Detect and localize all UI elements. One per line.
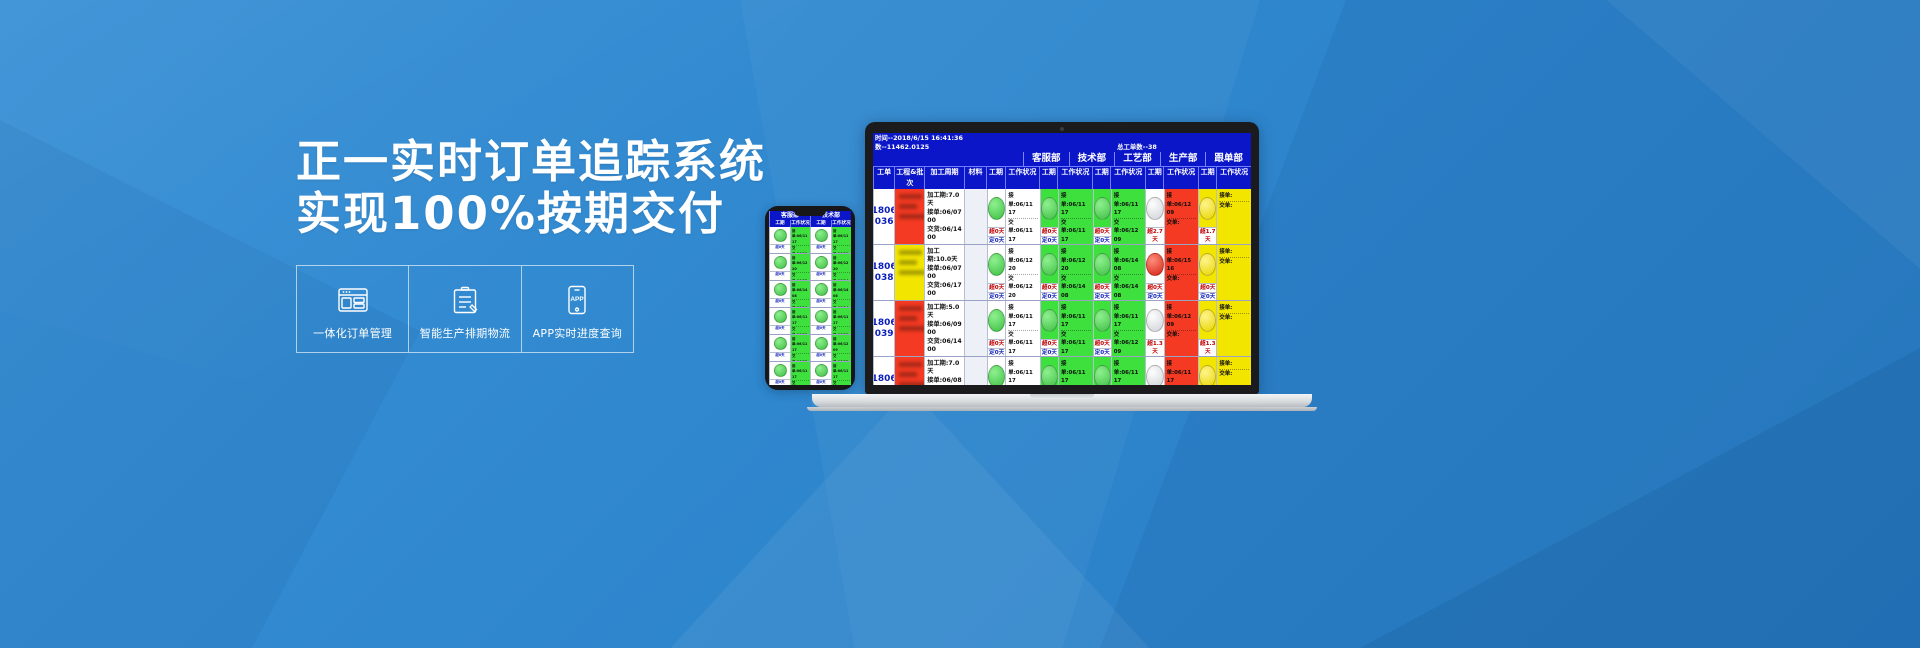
over-days-badge: 超1.3天 [1199,339,1216,356]
order-tracking-dashboard: 时间--2018/6/15 16:41:36 数--11462.0125 总工单… [873,133,1251,385]
fixed-days-badge: 定0天 [988,236,1005,244]
feature-item-order-management[interactable]: 一体化订单管理 [296,265,409,353]
phone-duration-cell: 超0天 [769,362,790,385]
dept-duration-cell: 超0天定0天 [1093,189,1111,244]
status-dot-yellow [1199,365,1216,386]
column-header-1: 工程&批次 [894,167,924,189]
dept-header-spacer [873,152,1023,166]
dept-duration-cell: 超1.3天定0天 [1198,301,1216,356]
phone-status-cell: 接单:06/12 20交单:06/14 08确认:06/14 08 [831,254,851,280]
phone-table-row[interactable]: 超0天接单:06/11 17交单:06/11 17超0天接单:06/11 17交… [769,227,851,254]
table-row[interactable]: 1806036加工期:7.0天接单:06/07 00交货:06/14 00超0天… [873,189,1251,245]
phone-badge: 超0天 [770,352,790,358]
phone-duration-cell: 超0天 [810,335,831,361]
dept-status-cell: 接单:交单: [1216,301,1251,356]
dept-status-cell: 接单:06/11 17交单:06/11 17确认:06/11 17 [1058,357,1093,385]
dept-status-cell: 接单:06/11 17交单: [1164,357,1199,385]
phone-badge: 超0天 [811,379,831,385]
dept-duration-cell: 超0天定1天 [987,357,1005,385]
dept-duration-cell: 超0天定4天 [1040,357,1058,385]
cycle-cell: 加工期:7.0天接单:06/08 00交货:06/15 00 [924,357,964,385]
dashboard-meta-2: 数--11462.0125 总工单数--38 [873,143,1251,152]
phone-badge: 超0天 [811,298,831,304]
clipboard-schedule-icon [450,279,480,321]
project-batch-cell [894,189,924,244]
status-dot-green [988,309,1005,332]
phone-duration-cell: 超0天 [769,308,790,334]
dept-col-header: 工作状况 [1005,167,1040,189]
phone-duration-cell: 超0天 [769,227,790,253]
status-dot-red [1146,253,1163,276]
mobile-app-icon: APP [565,279,589,321]
dept-col-header: 工作状况 [1110,167,1145,189]
phone-table-body: 超0天接单:06/11 17交单:06/11 17超0天接单:06/11 17交… [769,227,851,385]
phone-badge: 超0天 [770,379,790,385]
feature-label: APP实时进度查询 [533,327,623,340]
phone-badge: 超0天 [811,271,831,277]
dept-status-cell: 接单:06/14 08交单:06/14 08 [1111,245,1146,300]
phone-table-row[interactable]: 超0天接单:06/14 08交单:06/14 08超0天接单:06/14 08交… [769,281,851,308]
dept-duration-cell: 超0天定0天 [1040,189,1058,244]
fixed-days-badge: 定0天 [1094,236,1111,244]
phone-status-cell: 接单:06/11 17交单:06/11 17 [790,308,810,334]
dept-col-header: 工期 [1092,167,1110,189]
feature-list: 一体化订单管理 智能生产排期物流 [296,265,634,353]
laptop-lid: 时间--2018/6/15 16:41:36 数--11462.0125 总工单… [865,122,1259,394]
phone-status-cell: 接单:06/11 17交单:06/11 17 [790,362,810,385]
work-order-cell: 1806040 [873,357,894,385]
app-badge-text: APP [571,296,585,303]
fixed-days-badge: 定0天 [1041,292,1058,300]
phone-table-row[interactable]: 超0天接单:06/12 20交单:06/12 20超0天接单:06/12 20交… [769,254,851,281]
dept-duration-cell: 超0天定0天 [1093,357,1111,385]
phone-col: 工期 [769,220,790,227]
dept-duration-cell: 超0天定0天 [987,301,1005,356]
dept-status-cell: 接单:06/12 20交单:06/12 20 [1005,245,1040,300]
dept-status-cell: 接单:06/15 16交单: [1164,245,1199,300]
dept-duration-cell: 超3.7天定1天 [1198,357,1216,385]
phone-status-cell: 接单:06/11 17交单:06/11 17确认:06/11 17 [831,362,851,385]
phone-duration-cell: 超0天 [769,254,790,280]
fixed-days-badge: 定0天 [988,292,1005,300]
material-cell [964,189,987,244]
work-order-cell: 1806036 [873,189,894,244]
status-dot-green [815,337,828,350]
bg-facet-6 [1360,348,1920,648]
dept-duration-cell: 超0天定0天 [1040,301,1058,356]
feature-item-app-progress[interactable]: APP APP实时进度查询 [522,265,634,353]
fixed-days-badge: 定0天 [1094,348,1111,356]
column-header-row: 工单工程&批次加工周期材料工期工作状况工期工作状况工期工作状况工期工作状况工期工… [873,166,1251,189]
promo-banner: 正一实时订单追踪系统 实现100%按期交付 一 [0,0,1920,648]
laptop-mockup: 时间--2018/6/15 16:41:36 数--11462.0125 总工单… [865,122,1317,411]
phone-column-header: 工期 工作状况 工期 工作状况 [769,220,851,227]
over-days-badge: 超0天 [988,227,1005,236]
status-dot-green [1041,309,1058,332]
feature-item-production-schedule[interactable]: 智能生产排期物流 [409,265,521,353]
over-days-badge: 超1.3天 [1146,339,1163,356]
status-dot-green [774,310,787,323]
meta-total-orders: 总工单数--38 [1025,143,1249,152]
status-dot-green [988,365,1005,386]
column-header-0: 工单 [873,167,894,189]
phone-table-row[interactable]: 超0天接单:06/11 17交单:06/11 17超0天接单:06/11 17交… [769,308,851,335]
dept-duration-cell: 超0天定0天 [987,189,1005,244]
phone-duration-cell: 超0天 [810,308,831,334]
phone-badge: 超0天 [770,244,790,250]
phone-status-cell: 接单:06/12 09交单:06/12 09确认:06/12 09 [831,335,851,361]
dept-duration-cell: 超1.3天定0天 [1145,301,1163,356]
phone-badge: 超0天 [770,325,790,331]
laptop-screen: 时间--2018/6/15 16:41:36 数--11462.0125 总工单… [873,133,1251,385]
dept-status-cell: 接单:06/12 09交单: [1164,301,1199,356]
status-dot-gray [1146,197,1163,220]
dashboard-meta: 时间--2018/6/15 16:41:36 [873,133,1251,143]
phone-mockup: 客服部 技术部 工期 工作状况 工期 工作状况 超0天接单:06/11 17交单… [765,206,855,390]
dept-status-cell: 接单:06/11 17交单:06/12 09 [1111,301,1146,356]
over-days-badge: 超0天 [1041,283,1058,292]
phone-notch [794,210,826,216]
status-dot-gray [1146,365,1163,386]
material-cell [964,357,987,385]
dept-duration-cell: 超0天定0天 [1093,245,1111,300]
dept-duration-cell: 超0天定0天 [1093,301,1111,356]
dept-status-cell: 接单:06/11 17交单:06/11 17确认:06/11 17 [1058,301,1093,356]
over-days-badge: 超0天 [988,339,1005,348]
status-dot-green [774,364,787,377]
dept-col-header: 工期 [986,167,1004,189]
dept-header-followup: 跟单部 [1205,152,1251,166]
dept-duration-cell: 超1.7天定0天 [1198,189,1216,244]
phone-duration-cell: 超0天 [769,281,790,307]
work-order-cell: 1806039 [873,301,894,356]
webcam-icon [1060,127,1064,131]
over-days-badge: 超0天 [1094,283,1111,292]
status-dot-yellow [1199,253,1216,276]
dept-status-cell: 接单:06/11 17交单:06/12 09 [1111,189,1146,244]
phone-status-cell: 接单:06/11 17交单:06/11 17 [790,227,810,253]
status-dot-green [774,256,787,269]
over-days-badge: 超0天 [1094,227,1111,236]
over-days-badge: 超1.7天 [1199,227,1216,244]
over-days-badge: 超0天 [988,283,1005,292]
meta-time: 时间--2018/6/15 16:41:36 [875,134,1025,143]
phone-status-cell: 接单:06/11 17交单:06/11 17确认:06/11 17 [831,227,851,253]
phone-table-row[interactable]: 超0天接单:06/11 17交单:06/12 09超0天接单:06/12 09交… [769,335,851,362]
status-dot-green [1094,309,1111,332]
phone-duration-cell: 超0天 [810,281,831,307]
dept-status-cell: 接单:交单: [1216,189,1251,244]
status-dot-gray [1146,309,1163,332]
dashboard-table-body: 1806036加工期:7.0天接单:06/07 00交货:06/14 00超0天… [873,189,1251,385]
headline-line-1: 正一实时订单追踪系统 [296,135,766,188]
phone-col: 工作状况 [831,220,851,227]
phone-duration-cell: 超0天 [810,227,831,253]
fixed-days-badge: 定0天 [1041,236,1058,244]
material-cell [964,245,987,300]
cycle-cell: 加工期:10.0天接单:06/07 00交货:06/17 00 [924,245,964,300]
bg-facet-5 [1560,0,1920,320]
phone-screen: 客服部 技术部 工期 工作状况 工期 工作状况 超0天接单:06/11 17交单… [769,211,851,385]
dept-duration-cell: 超0天定0天 [987,245,1005,300]
phone-status-cell: 接单:06/14 08交单:06/14 08 [790,281,810,307]
table-row[interactable]: 1806039加工期:5.0天接单:06/09 00交货:06/14 00超0天… [873,301,1251,357]
status-dot-green [1094,253,1111,276]
dept-status-cell: 接单:交单: [1216,357,1251,385]
phone-duration-cell: 超0天 [769,335,790,361]
status-dot-green [1041,197,1058,220]
dept-col-header: 工期 [1039,167,1057,189]
status-dot-green [988,197,1005,220]
dept-status-cell: 接单:06/11 17交单:06/11 17确认:06/11 17 [1058,189,1093,244]
dept-header-customer-service: 客服部 [1023,152,1069,166]
phone-status-cell: 接单:06/14 08交单:06/14 08确认:06/14 08 [831,281,851,307]
phone-duration-cell: 超0天 [810,254,831,280]
dept-header-production: 生产部 [1160,152,1206,166]
over-days-badge: 超0天 [1094,339,1111,348]
laptop-foot [807,407,1317,411]
status-dot-green [815,256,828,269]
phone-badge: 超0天 [770,271,790,277]
work-order-cell: 1806038 [873,245,894,300]
status-dot-green [774,283,787,296]
fixed-days-badge: 定0天 [1146,292,1163,300]
phone-badge: 超0天 [811,244,831,250]
status-dot-green [774,337,787,350]
dept-col-header: 工作状况 [1057,167,1092,189]
phone-badge: 超0天 [811,352,831,358]
dept-status-cell: 接单:交单: [1216,245,1251,300]
dept-status-cell: 接单:06/11 17交单:06/11 17 [1005,357,1040,385]
dept-status-cell: 接单:06/11 17交单:06/11 17 [1005,189,1040,244]
over-days-badge: 超0天 [1041,227,1058,236]
fixed-days-badge: 定0天 [1199,292,1216,300]
order-management-icon [336,279,370,321]
project-batch-cell [894,245,924,300]
dept-status-cell: 接单:06/11 17交单:06/11 17 [1005,301,1040,356]
column-header-3: 材料 [964,167,987,189]
dept-duration-cell: 超0天定0天 [1145,245,1163,300]
status-dot-green [774,229,787,242]
device-mockups: 客服部 技术部 工期 工作状况 工期 工作状况 超0天接单:06/11 17交单… [745,110,1365,530]
fixed-days-badge: 定0天 [1094,292,1111,300]
phone-col: 工期 [810,220,831,227]
laptop-base [812,394,1312,407]
meta-count: 数--11462.0125 [875,143,1025,152]
status-dot-green [988,253,1005,276]
phone-status-cell: 接单:06/11 17交单:06/12 09 [790,335,810,361]
status-dot-green [815,283,828,296]
project-batch-cell [894,357,924,385]
table-row[interactable]: 1806038加工期:10.0天接单:06/07 00交货:06/17 00超0… [873,245,1251,301]
phone-status-cell: 接单:06/11 17交单:06/11 17确认:06/11 17 [831,308,851,334]
dept-duration-cell: 超0天定0天 [1198,245,1216,300]
dept-status-cell: 接单:06/12 20交单:06/14 08确认:06/14 08 [1058,245,1093,300]
dept-col-header: 工期 [1145,167,1163,189]
dept-status-cell: 接单:06/12 09交单: [1164,189,1199,244]
status-dot-green [815,229,828,242]
material-cell [964,301,987,356]
dept-header-process: 工艺部 [1114,152,1160,166]
dashboard-header: 时间--2018/6/15 16:41:36 数--11462.0125 总工单… [873,133,1251,152]
status-dot-green [1041,365,1058,386]
dept-col-header: 工作状况 [1163,167,1198,189]
status-dot-green [1094,365,1111,386]
fixed-days-badge: 定0天 [988,348,1005,356]
phone-col: 工作状况 [790,220,810,227]
table-row[interactable]: 1806040加工期:7.0天接单:06/08 00交货:06/15 00超0天… [873,357,1251,385]
over-days-badge: 超2.7天 [1146,227,1163,244]
status-dot-green [815,310,828,323]
phone-table-row[interactable]: 超0天接单:06/11 17交单:06/11 17超0天接单:06/11 17交… [769,362,851,385]
department-header-row: 客服部 技术部 工艺部 生产部 跟单部 [873,152,1251,166]
dept-status-cell: 接单:06/11 17交单:06/11 17 [1111,357,1146,385]
dept-header-technology: 技术部 [1069,152,1115,166]
dept-col-header: 工期 [1198,167,1216,189]
status-dot-green [1094,197,1111,220]
fixed-days-badge: 定0天 [1041,348,1058,356]
dept-duration-cell: 超3.7天定1天 [1145,357,1163,385]
dept-duration-cell: 超2.7天定0天 [1145,189,1163,244]
status-dot-yellow [1199,197,1216,220]
feature-label: 智能生产排期物流 [420,327,510,340]
status-dot-green [815,364,828,377]
dept-col-header: 工作状况 [1216,167,1251,189]
project-batch-cell [894,301,924,356]
over-days-badge: 超0天 [1199,283,1216,292]
cycle-cell: 加工期:5.0天接单:06/09 00交货:06/14 00 [924,301,964,356]
phone-badge: 超0天 [811,325,831,331]
phone-duration-cell: 超0天 [810,362,831,385]
column-header-2: 加工周期 [924,167,963,189]
feature-label: 一体化订单管理 [313,327,392,340]
status-dot-green [1041,253,1058,276]
status-dot-yellow [1199,309,1216,332]
over-days-badge: 超0天 [1041,339,1058,348]
phone-badge: 超0天 [770,298,790,304]
cycle-cell: 加工期:7.0天接单:06/07 00交货:06/14 00 [924,189,964,244]
over-days-badge: 超0天 [1146,283,1163,292]
phone-status-cell: 接单:06/12 20交单:06/12 20 [790,254,810,280]
dept-duration-cell: 超0天定0天 [1040,245,1058,300]
